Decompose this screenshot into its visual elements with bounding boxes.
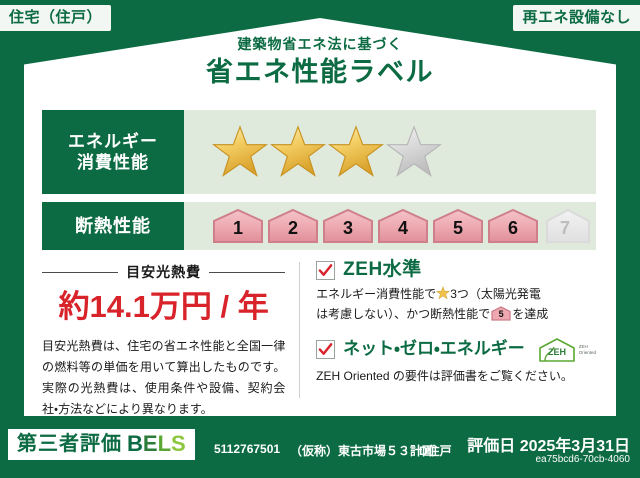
energy-cost-heading-text: 目安光熱費	[126, 262, 201, 282]
star-rating	[212, 124, 442, 180]
insulation-step-7: 7	[542, 208, 588, 244]
star-filled-icon-2	[270, 124, 326, 180]
star-filled-icon-1	[212, 124, 268, 180]
bels-letter-e: E	[143, 431, 158, 456]
footer-evaluation-date: 評価日 2025年3月31日	[467, 432, 630, 456]
star-empty-icon-4	[386, 124, 442, 180]
check-icon	[318, 342, 333, 357]
inline-star-icon	[436, 286, 450, 300]
insulation-step-3: 3	[322, 208, 374, 244]
insulation-step-label-1: 1	[233, 218, 243, 244]
energy-performance-row: エネルギー 消費性能	[42, 110, 596, 194]
insulation-performance-label: 断熱性能	[42, 202, 184, 250]
energy-cost-heading: 目安光熱費	[42, 262, 285, 282]
footer-project-name: （仮称）東古市場５３計画	[290, 442, 434, 459]
svg-text:ZEH: ZEH	[548, 347, 566, 357]
insulation-scale: 1 2 3	[212, 208, 588, 244]
net-zero-description: ZEH Oriented の要件は評価書をご覧ください。	[316, 366, 596, 386]
zeh-desc-part2: は考慮しない）、かつ断熱性能で	[316, 307, 490, 321]
insulation-step-label-7: 7	[560, 218, 570, 244]
label-bottom-section: 目安光熱費 約14.1万円 / 年 目安光熱費は、住宅の省エネ性能と全国一律の燃…	[42, 260, 596, 402]
zeh-desc-stars: 3つ（太陽光発電	[450, 287, 541, 301]
insulation-performance-value: 1 2 3	[184, 202, 596, 250]
zeh-standard-title: ZEH水準	[343, 260, 422, 281]
insulation-performance-row: 断熱性能 1	[42, 202, 596, 250]
footer-unit-name: D住戸	[419, 442, 452, 459]
energy-label-line1: エネルギー	[68, 132, 158, 151]
zeh-standard-header: ZEH水準	[316, 260, 596, 281]
bels-jp-text: 第三者評価	[17, 434, 122, 454]
bels-letter-s: S	[171, 431, 186, 456]
insulation-step-2: 2	[267, 208, 319, 244]
insulation-step-5: 5	[432, 208, 484, 244]
bels-badge: 第三者評価 BELS	[8, 429, 195, 460]
bels-letter-b: B	[127, 431, 143, 456]
zeh-desc-part3: を達成	[512, 307, 548, 321]
label-body-panel: エネルギー 消費性能	[24, 96, 616, 416]
inline-house-value: 5	[491, 306, 511, 321]
insulation-step-label-6: 6	[508, 218, 518, 244]
footer-uuid: ea75bcd6-70cb-4060	[535, 454, 630, 465]
zeh-standard-checkbox[interactable]	[316, 261, 335, 280]
net-zero-header: ネット・ゼロ・エネルギー ZEH ZEH Oriented	[316, 337, 596, 363]
insulation-step-label-5: 5	[453, 218, 463, 244]
star-filled-icon-3	[328, 124, 384, 180]
bels-energy-label: 住宅（住戸） 再エネ設備なし 建築物省エネ法に基づく 省エネ性能ラベル エネルギ…	[0, 0, 640, 478]
insulation-step-label-4: 4	[398, 218, 408, 244]
energy-cost-block: 目安光熱費 約14.1万円 / 年 目安光熱費は、住宅の省エネ性能と全国一律の燃…	[42, 260, 299, 402]
check-icon	[318, 263, 333, 278]
label-footer: 第三者評価 BELS 5112767501 （仮称）東古市場５３計画 D住戸 評…	[0, 420, 640, 478]
renewable-equipment-badge: 再エネ設備なし	[513, 5, 640, 31]
inline-house-icon: 5	[491, 306, 511, 321]
insulation-step-6: 6	[487, 208, 539, 244]
insulation-step-label-3: 3	[343, 218, 353, 244]
zeh-logo: ZEH ZEH Oriented	[537, 337, 596, 363]
bels-letter-l: L	[158, 431, 171, 456]
insulation-step-label-2: 2	[288, 218, 298, 244]
insulation-step-4: 4	[377, 208, 429, 244]
zeh-logo-sub-line1: ZEH	[579, 344, 588, 349]
net-zero-checkbox[interactable]	[316, 340, 335, 359]
bels-logo-text: BELS	[127, 433, 186, 455]
zeh-house-logo-icon: ZEH	[537, 337, 577, 363]
zeh-desc-part1: エネルギー消費性能で	[316, 287, 436, 301]
energy-performance-label: エネルギー 消費性能	[42, 110, 184, 194]
energy-cost-note: 目安光熱費は、住宅の省エネ性能と全国一律の燃料等の単価を用いて算出したものです。…	[42, 336, 285, 420]
zeh-logo-sub-line2: Oriented	[579, 350, 596, 355]
insulation-step-1: 1	[212, 208, 264, 244]
zeh-logo-subtext: ZEH Oriented	[579, 344, 596, 355]
energy-performance-value	[184, 110, 596, 194]
footer-certificate-code: 5112767501	[214, 442, 280, 456]
cost-rule-right	[209, 272, 285, 273]
net-zero-title: ネット・ゼロ・エネルギー	[343, 340, 525, 359]
zeh-standard-description: エネルギー消費性能で3つ（太陽光発電は考慮しない）、かつ断熱性能で5を達成	[316, 284, 596, 325]
cost-rule-left	[42, 272, 118, 273]
energy-label-line2: 消費性能	[77, 153, 149, 172]
energy-cost-value: 約14.1万円 / 年	[42, 290, 285, 324]
zeh-block: ZEH水準 エネルギー消費性能で3つ（太陽光発電は考慮しない）、かつ断熱性能で5…	[300, 260, 596, 402]
building-type-badge: 住宅（住戸）	[0, 5, 111, 31]
